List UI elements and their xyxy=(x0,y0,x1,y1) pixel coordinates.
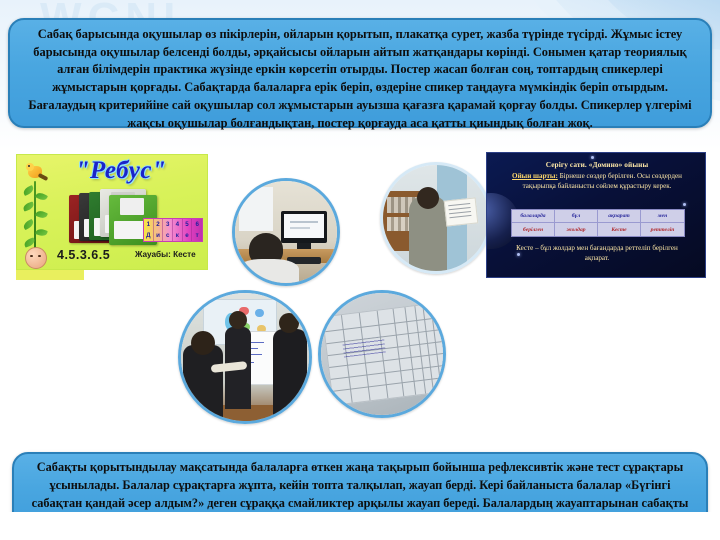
rebus-letter-cell: е xyxy=(183,230,193,241)
rebus-num-cell: 5 xyxy=(183,219,193,230)
photo-board xyxy=(178,290,312,424)
rebus-letter-cell: с xyxy=(163,230,173,241)
domino-word-table: балаларда бұл ақпарат мен берілген жолда… xyxy=(511,209,685,237)
rebus-letter-cell: и xyxy=(154,230,164,241)
domino-rule-label: Ойын шарты: xyxy=(512,172,558,180)
domino-cell: мен xyxy=(641,210,684,223)
top-text-panel: Сабақ барысында оқушылар өз пікірлерін, … xyxy=(8,18,712,128)
domino-cell: Кесте xyxy=(598,223,641,236)
domino-cell: реттеліп xyxy=(641,223,684,236)
domino-cell: балаларда xyxy=(512,210,555,223)
rebus-code: 4.5.3.6.5 xyxy=(57,248,110,262)
domino-rule: Ойын шарты: Бірнеше сөздер берілген. Осы… xyxy=(503,171,691,191)
rebus-letter-cell: Д xyxy=(144,230,154,241)
domino-footer: Кесте – бұл жолдар мен бағандарда реттел… xyxy=(505,243,689,264)
rebus-slide: "Ребус" 1 2 3 4 5 6 Д и с к е т xyxy=(16,154,208,270)
domino-title: Серігу сати. «Домино» ойыны xyxy=(505,160,689,169)
bottom-white-margin xyxy=(0,512,720,540)
domino-cell: бұл xyxy=(555,210,598,223)
rebus-title: "Ребус" xyxy=(45,157,197,185)
rebus-letter-cell: т xyxy=(192,230,202,241)
photo-table xyxy=(318,290,446,418)
photo-table-art xyxy=(321,293,443,415)
rebus-answer-label: Жауабы: xyxy=(135,250,171,259)
photo-poster xyxy=(380,162,492,274)
rebus-answer-value: Кесте xyxy=(173,250,196,259)
rebus-num-cell: 6 xyxy=(192,219,202,230)
vine-icon xyxy=(23,181,53,255)
rebus-answer: Жауабы: Кесте xyxy=(135,250,196,259)
domino-cell: берілген xyxy=(512,223,555,236)
face-icon xyxy=(25,247,47,269)
photo-computer-art xyxy=(235,181,337,283)
rebus-num-cell: 1 xyxy=(144,219,154,230)
domino-cell: жолдар xyxy=(555,223,598,236)
content-band: "Ребус" 1 2 3 4 5 6 Д и с к е т xyxy=(0,140,720,440)
photo-board-art xyxy=(181,293,309,421)
photo-computer xyxy=(232,178,340,286)
top-panel-text: Сабақ барысында оқушылар өз пікірлерін, … xyxy=(10,20,710,136)
slide-canvas: WCNI Сабақ барысында оқушылар өз пікірле… xyxy=(0,0,720,540)
rebus-num-cell: 4 xyxy=(173,219,183,230)
rebus-letter-cell: к xyxy=(173,230,183,241)
photo-poster-art xyxy=(383,165,489,271)
domino-cell: ақпарат xyxy=(598,210,641,223)
domino-slide: Серігу сати. «Домино» ойыны Ойын шарты: … xyxy=(486,152,706,278)
rebus-cipher-table: 1 2 3 4 5 6 Д и с к е т xyxy=(143,218,203,242)
rebus-num-cell: 3 xyxy=(163,219,173,230)
rebus-num-cell: 2 xyxy=(154,219,164,230)
